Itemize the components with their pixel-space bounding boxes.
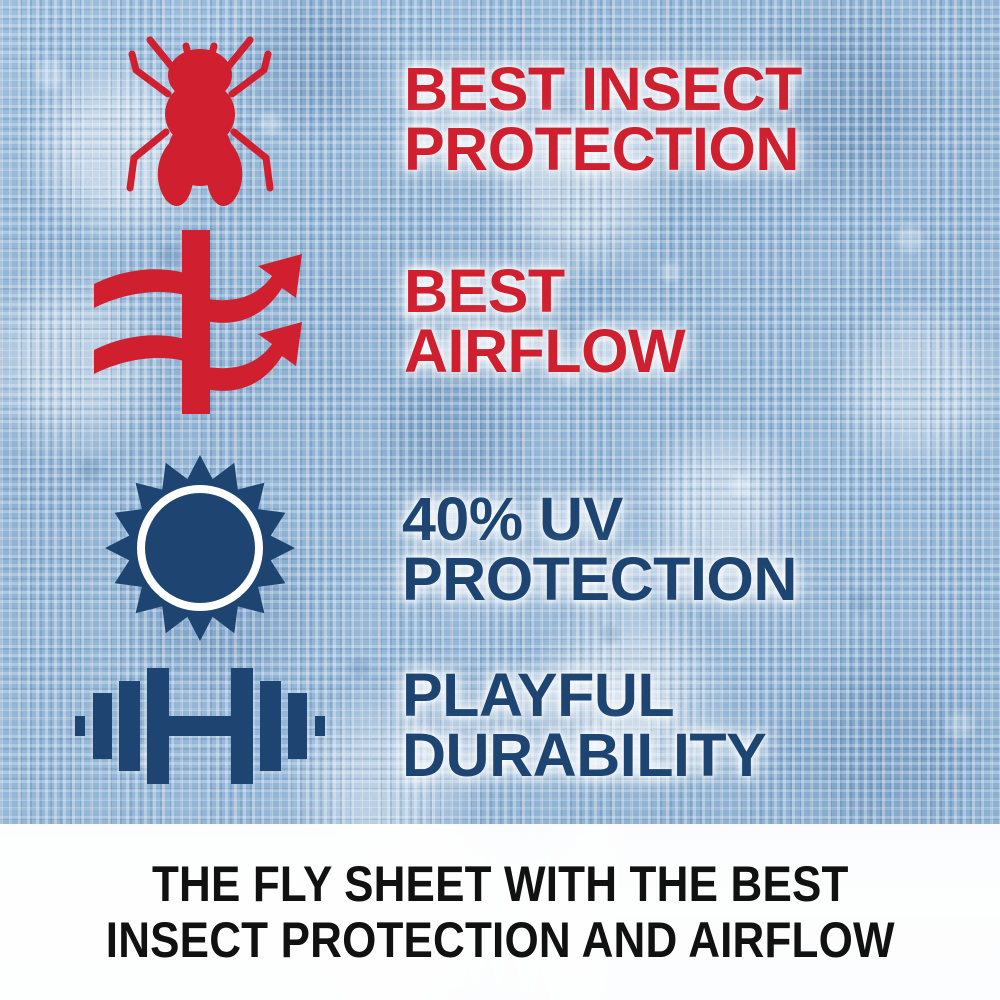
- feature-label-insect-protection: BEST INSECT PROTECTION: [404, 60, 1000, 180]
- text-cell-uv: 40% UV PROTECTION: [400, 490, 1000, 610]
- banner-headline: THE FLY SHEET WITH THE BEST INSECT PROTE…: [106, 856, 895, 968]
- feature-row-durability: PLAYFUL DURABILITY: [0, 656, 1000, 796]
- feature-row-uv-protection: 40% UV PROTECTION: [0, 452, 1000, 648]
- feature-label-durability: PLAYFUL DURABILITY: [402, 666, 1000, 786]
- icon-cell-airflow: [0, 228, 400, 416]
- text-cell-insect: BEST INSECT PROTECTION: [400, 60, 1000, 180]
- icon-cell-uv: [0, 452, 400, 648]
- dumbbell-icon: [75, 660, 325, 792]
- airflow-arrows-icon: [90, 228, 310, 416]
- sun-icon: [102, 452, 298, 648]
- text-cell-durability: PLAYFUL DURABILITY: [400, 666, 1000, 786]
- feature-label-uv-protection: 40% UV PROTECTION: [402, 490, 1000, 610]
- feature-row-insect-protection: BEST INSECT PROTECTION: [0, 30, 1000, 210]
- icon-cell-durability: [0, 660, 400, 792]
- feature-label-airflow: BEST AIRFLOW: [404, 262, 1000, 382]
- feature-row-airflow: BEST AIRFLOW: [0, 228, 1000, 416]
- poster-root: BEST INSECT PROTECTION BEST AIRFL: [0, 0, 1000, 1000]
- fly-icon: [110, 28, 290, 213]
- bottom-banner: THE FLY SHEET WITH THE BEST INSECT PROTE…: [0, 824, 1000, 1000]
- icon-cell-insect: [0, 28, 400, 213]
- text-cell-airflow: BEST AIRFLOW: [400, 262, 1000, 382]
